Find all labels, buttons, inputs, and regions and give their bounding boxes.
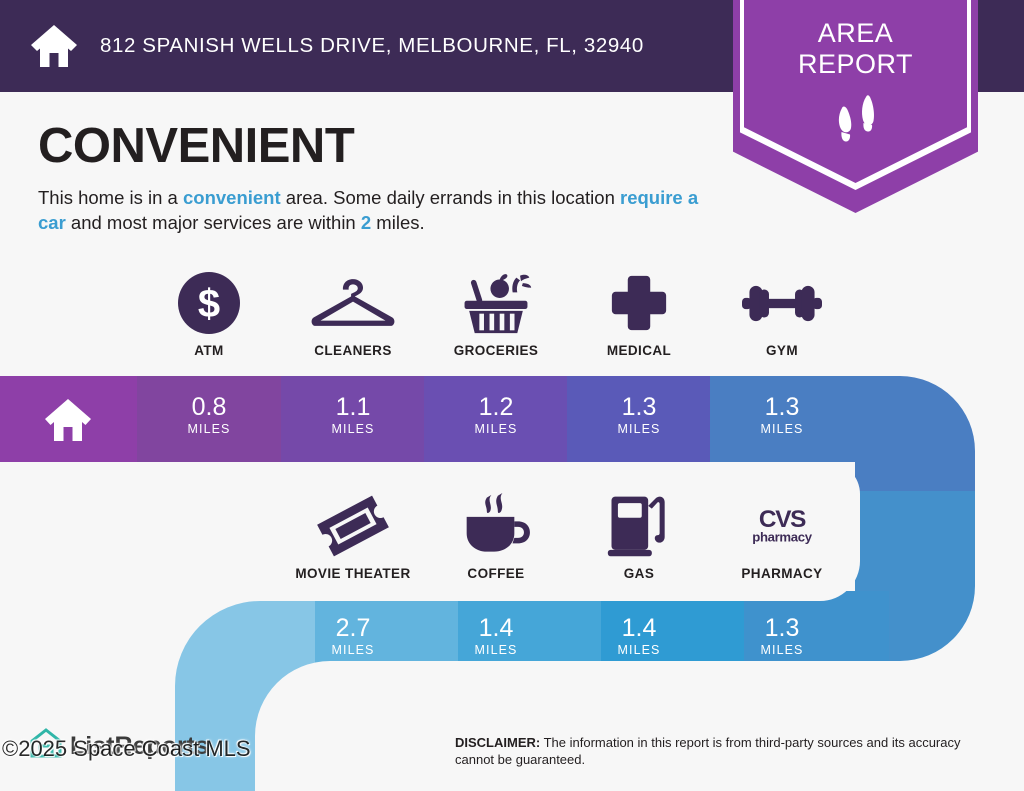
- distance-value: 1.3: [710, 615, 854, 642]
- subtitle-highlight-3: 2: [361, 212, 371, 233]
- distance-unit: MILES: [567, 643, 711, 657]
- service-label: ATM: [137, 343, 281, 358]
- distance-pharmacy: 1.3 MILES: [710, 615, 854, 657]
- distance-unit: MILES: [281, 643, 425, 657]
- distance-unit: MILES: [710, 643, 854, 657]
- distance-gym: 1.3 MILES: [710, 394, 854, 436]
- dumbbell-icon: [710, 272, 854, 334]
- distance-value: 1.4: [567, 615, 711, 642]
- distance-cleaners: 1.1 MILES: [281, 394, 425, 436]
- badge-title: AREA REPORT: [733, 18, 978, 80]
- grocery-basket-icon: [424, 272, 568, 334]
- disclaimer: DISCLAIMER: The information in this repo…: [455, 734, 1000, 768]
- service-gym: GYM: [710, 272, 854, 358]
- home-icon: [30, 23, 78, 69]
- service-atm: $ ATM: [137, 272, 281, 358]
- distance-value: 1.3: [710, 394, 854, 421]
- home-icon: [44, 398, 92, 442]
- distance-medical: 1.3 MILES: [567, 394, 711, 436]
- subtitle-part-3: and most major services are within: [66, 212, 361, 233]
- mls-watermark: ©2025 Space Coast MLS: [2, 736, 251, 762]
- service-label: GYM: [710, 343, 854, 358]
- clothes-hanger-icon: [281, 272, 425, 334]
- distance-atm: 0.8 MILES: [137, 394, 281, 436]
- page-title: CONVENIENT: [38, 118, 354, 174]
- distance-value: 0.8: [137, 394, 281, 421]
- service-label: GROCERIES: [424, 343, 568, 358]
- disclaimer-label: DISCLAIMER:: [455, 735, 540, 750]
- distance-value: 2.7: [281, 615, 425, 642]
- distance-unit: MILES: [137, 422, 281, 436]
- ribbon-turn-right-upper: [855, 376, 1024, 491]
- subtitle-part-2: area. Some daily errands in this locatio…: [281, 187, 620, 208]
- service-groceries: GROCERIES: [424, 272, 568, 358]
- distance-value: 1.3: [567, 394, 711, 421]
- badge-graphic: AREA REPORT: [733, 0, 978, 213]
- page-subtitle: This home is in a convenient area. Some …: [38, 186, 728, 235]
- medical-cross-icon: [567, 272, 711, 334]
- property-address: 812 SPANISH WELLS DRIVE, MELBOURNE, FL, …: [100, 34, 644, 58]
- distance-value: 1.2: [424, 394, 568, 421]
- distance-value: 1.1: [281, 394, 425, 421]
- distance-unit: MILES: [710, 422, 854, 436]
- distance-unit: MILES: [424, 422, 568, 436]
- distance-movie-theater: 2.7 MILES: [281, 615, 425, 657]
- distance-unit: MILES: [567, 422, 711, 436]
- subtitle-part-4: miles.: [371, 212, 424, 233]
- distance-coffee: 1.4 MILES: [424, 615, 568, 657]
- badge-line-2: REPORT: [733, 49, 978, 80]
- subtitle-highlight-1: convenient: [183, 187, 281, 208]
- service-cleaners: CLEANERS: [281, 272, 425, 358]
- subtitle-part-1: This home is in a: [38, 187, 183, 208]
- service-label: CLEANERS: [281, 343, 425, 358]
- distance-value: 1.4: [424, 615, 568, 642]
- footprints-icon: [836, 94, 880, 146]
- dollar-circle-icon: $: [137, 272, 281, 334]
- distance-unit: MILES: [281, 422, 425, 436]
- distance-groceries: 1.2 MILES: [424, 394, 568, 436]
- badge-line-1: AREA: [733, 18, 978, 49]
- service-label: MEDICAL: [567, 343, 711, 358]
- distance-unit: MILES: [424, 643, 568, 657]
- svg-text:$: $: [198, 282, 220, 326]
- distance-gas: 1.4 MILES: [567, 615, 711, 657]
- service-medical: MEDICAL: [567, 272, 711, 358]
